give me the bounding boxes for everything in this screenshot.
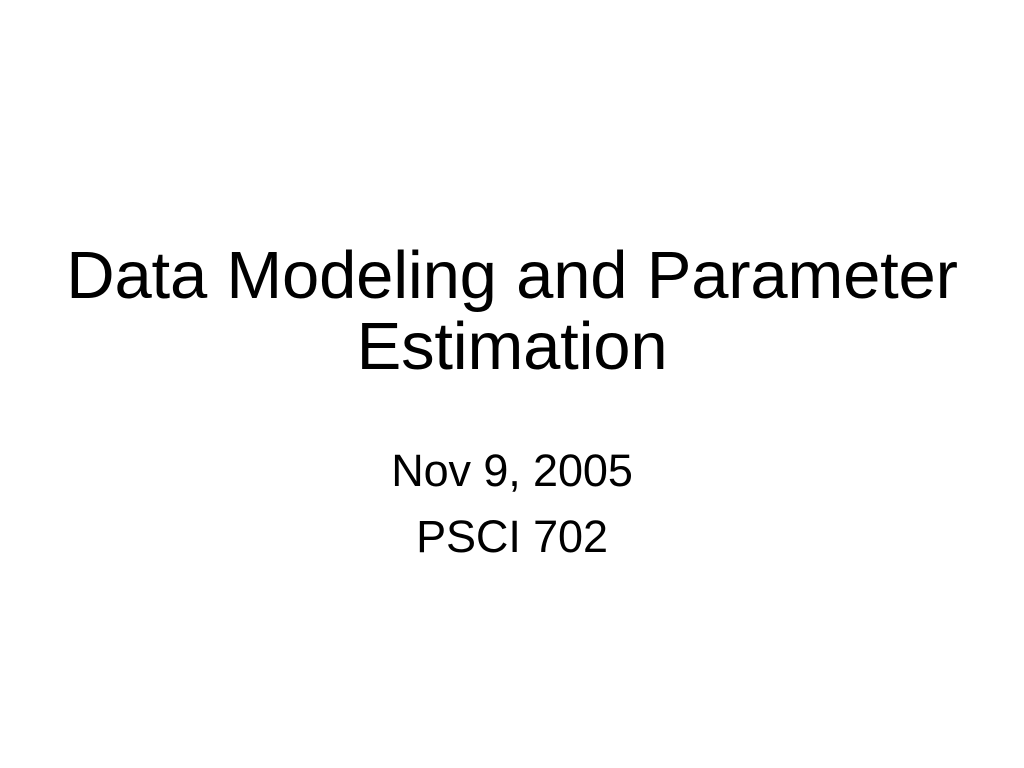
subtitle-line-course: PSCI 702	[112, 504, 912, 570]
slide-title-placeholder[interactable]: Data Modeling and Parameter Estimation	[62, 240, 962, 382]
slide-title: Data Modeling and Parameter Estimation	[62, 240, 962, 382]
slide-subtitle-placeholder[interactable]: Nov 9, 2005 PSCI 702	[112, 438, 912, 570]
presentation-slide: Data Modeling and Parameter Estimation N…	[0, 0, 1024, 768]
subtitle-line-date: Nov 9, 2005	[112, 438, 912, 504]
